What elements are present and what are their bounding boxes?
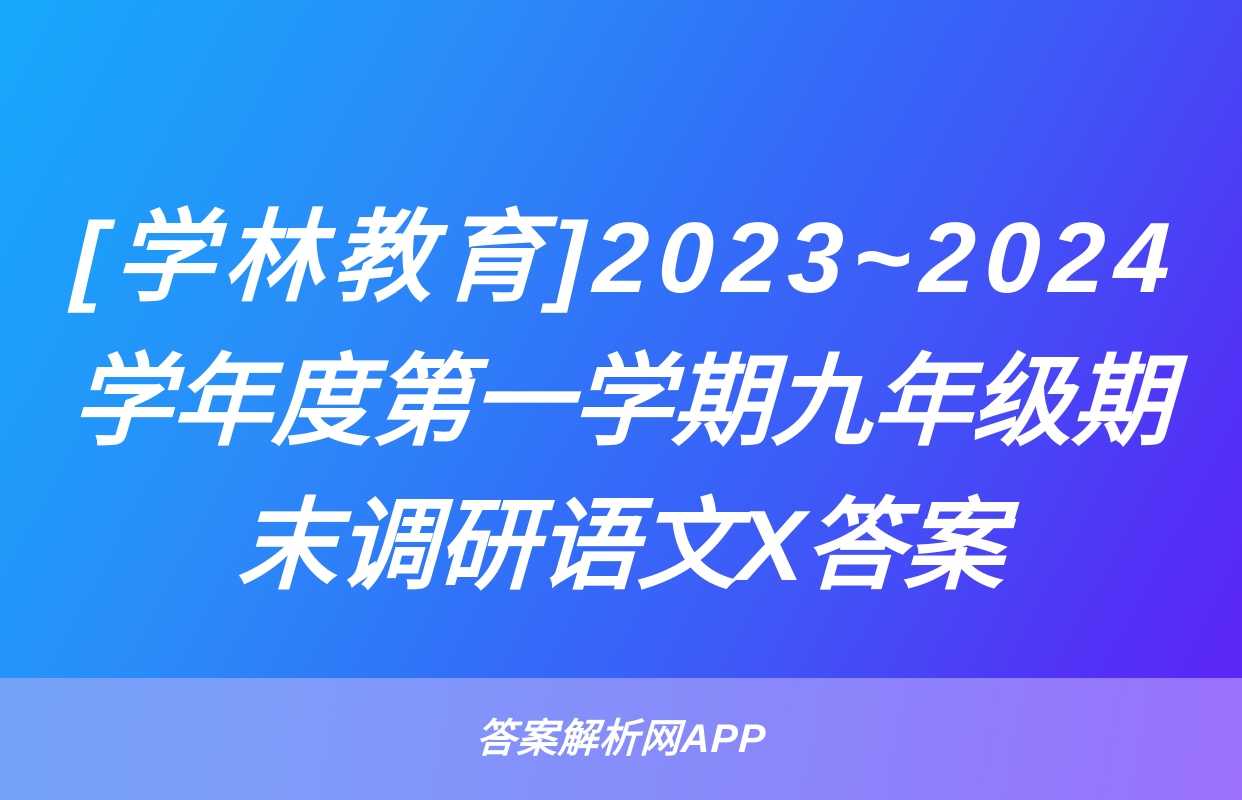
title-glyph: 0 [656,186,717,330]
title-glyph: 林 [221,186,326,330]
title-glyph: [ [69,186,107,330]
title-glyph: 期 [669,330,774,474]
app-brand-label: 答案解析网APP [475,719,767,759]
title-glyph: 九 [769,330,874,474]
poster-title-line-2: 学年度第一学期九年级期 [69,330,1172,474]
title-glyph: 学 [569,330,674,474]
title-glyph: 教 [330,186,435,330]
title-glyph: ~ [850,186,913,330]
title-glyph: 年 [869,330,974,474]
poster-title-line-3: 末调研语文X答案 [69,474,1172,618]
title-glyph: 年 [169,330,274,474]
title-glyph: 学 [69,330,174,474]
poster-footer-band: 答案解析网APP [0,678,1242,800]
title-glyph: 育 [439,186,544,330]
title-glyph: 2 [720,186,781,330]
poster-canvas: [学林教育]2023~2024 学年度第一学期九年级期 末调研语文X答案 答案解… [0,0,1242,800]
title-glyph: 学 [112,186,217,330]
poster-title-line-1: [学林教育]2023~2024 [69,186,1172,330]
title-glyph: 2 [591,186,652,330]
title-glyph: 2 [1047,186,1108,330]
title-glyph: 0 [982,186,1043,330]
title-glyph: 2 [918,186,979,330]
title-glyph: 一 [469,330,574,474]
title-glyph: 期 [1069,330,1174,474]
title-glyph: 3 [785,186,846,330]
title-glyph: 第 [369,330,474,474]
poster-title-block: [学林教育]2023~2024 学年度第一学期九年级期 末调研语文X答案 [0,186,1242,616]
title-glyph: ] [549,186,587,330]
title-glyph: 级 [969,330,1074,474]
title-glyph: 度 [269,330,374,474]
title-glyph: 4 [1112,186,1173,330]
